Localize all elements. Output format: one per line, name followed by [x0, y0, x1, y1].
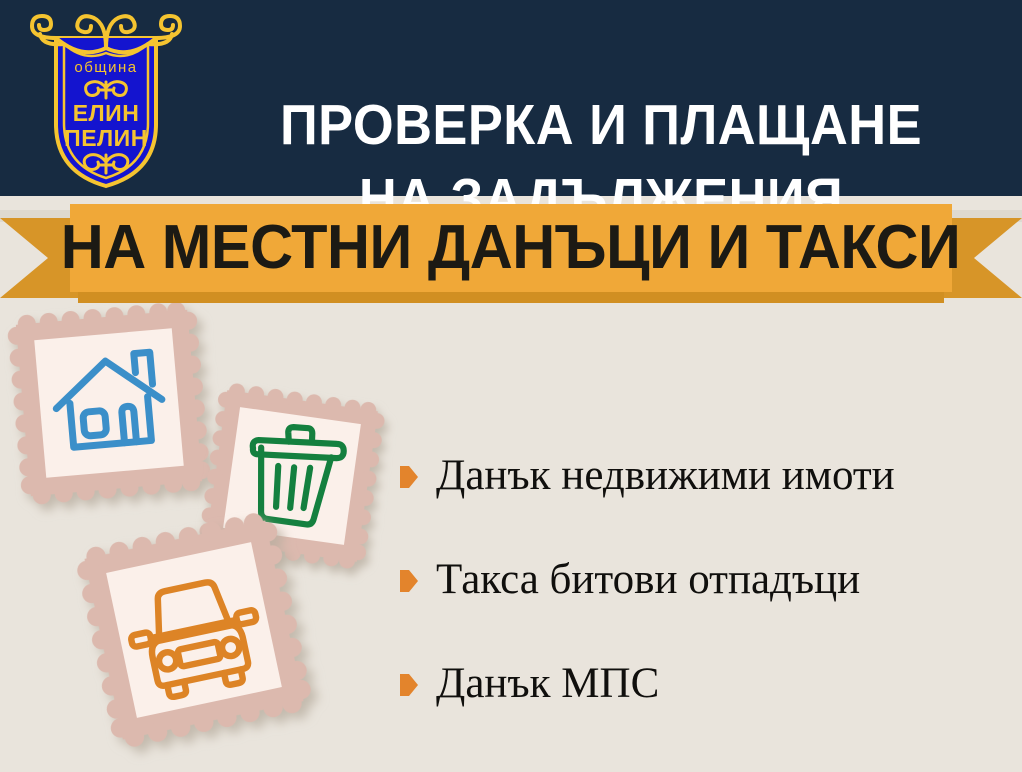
coa-name-line-1: ЕЛИН [73, 100, 140, 126]
list-item-label: Данък недвижими имоти [436, 452, 895, 500]
stamp-card-house [6, 300, 212, 506]
tax-type-list: Данък недвижими имоти Такса битови отпад… [400, 424, 1010, 736]
ribbon-text: НА МЕСТНИ ДАНЪЦИ И ТАКСИ [61, 217, 961, 279]
stamp-card-car [73, 509, 315, 751]
list-item-label: Такса битови отпадъци [436, 556, 860, 604]
stamp-card-group [0, 300, 420, 772]
coa-label-obshtina: община [74, 59, 137, 76]
ribbon-shadow [78, 292, 944, 303]
page-title-line-1: ПРОВЕРКА И ПЛАЩАНЕ [280, 93, 922, 157]
coa-name-line-2: ПЕЛИН [64, 125, 148, 151]
bullet-arrow-icon [400, 570, 418, 592]
stamp-paper-house [34, 328, 184, 478]
bullet-arrow-icon [400, 674, 418, 696]
ribbon-main-panel: НА МЕСТНИ ДАНЪЦИ И ТАКСИ [70, 204, 952, 292]
ribbon-banner: НА МЕСТНИ ДАНЪЦИ И ТАКСИ [0, 196, 1022, 314]
list-item[interactable]: Такса битови отпадъци [400, 528, 1010, 632]
poster-canvas: ПРОВЕРКА И ПЛАЩАНЕ НА ЗАДЪЛЖЕНИЯ [0, 0, 1022, 772]
bullet-arrow-icon [400, 466, 418, 488]
list-item-label: Данък МПС [436, 660, 659, 708]
list-item[interactable]: Данък недвижими имоти [400, 424, 1010, 528]
list-item[interactable]: Данък МПС [400, 632, 1010, 736]
coat-of-arms-logo: община ЕЛИН ПЕЛИН [16, 4, 196, 190]
